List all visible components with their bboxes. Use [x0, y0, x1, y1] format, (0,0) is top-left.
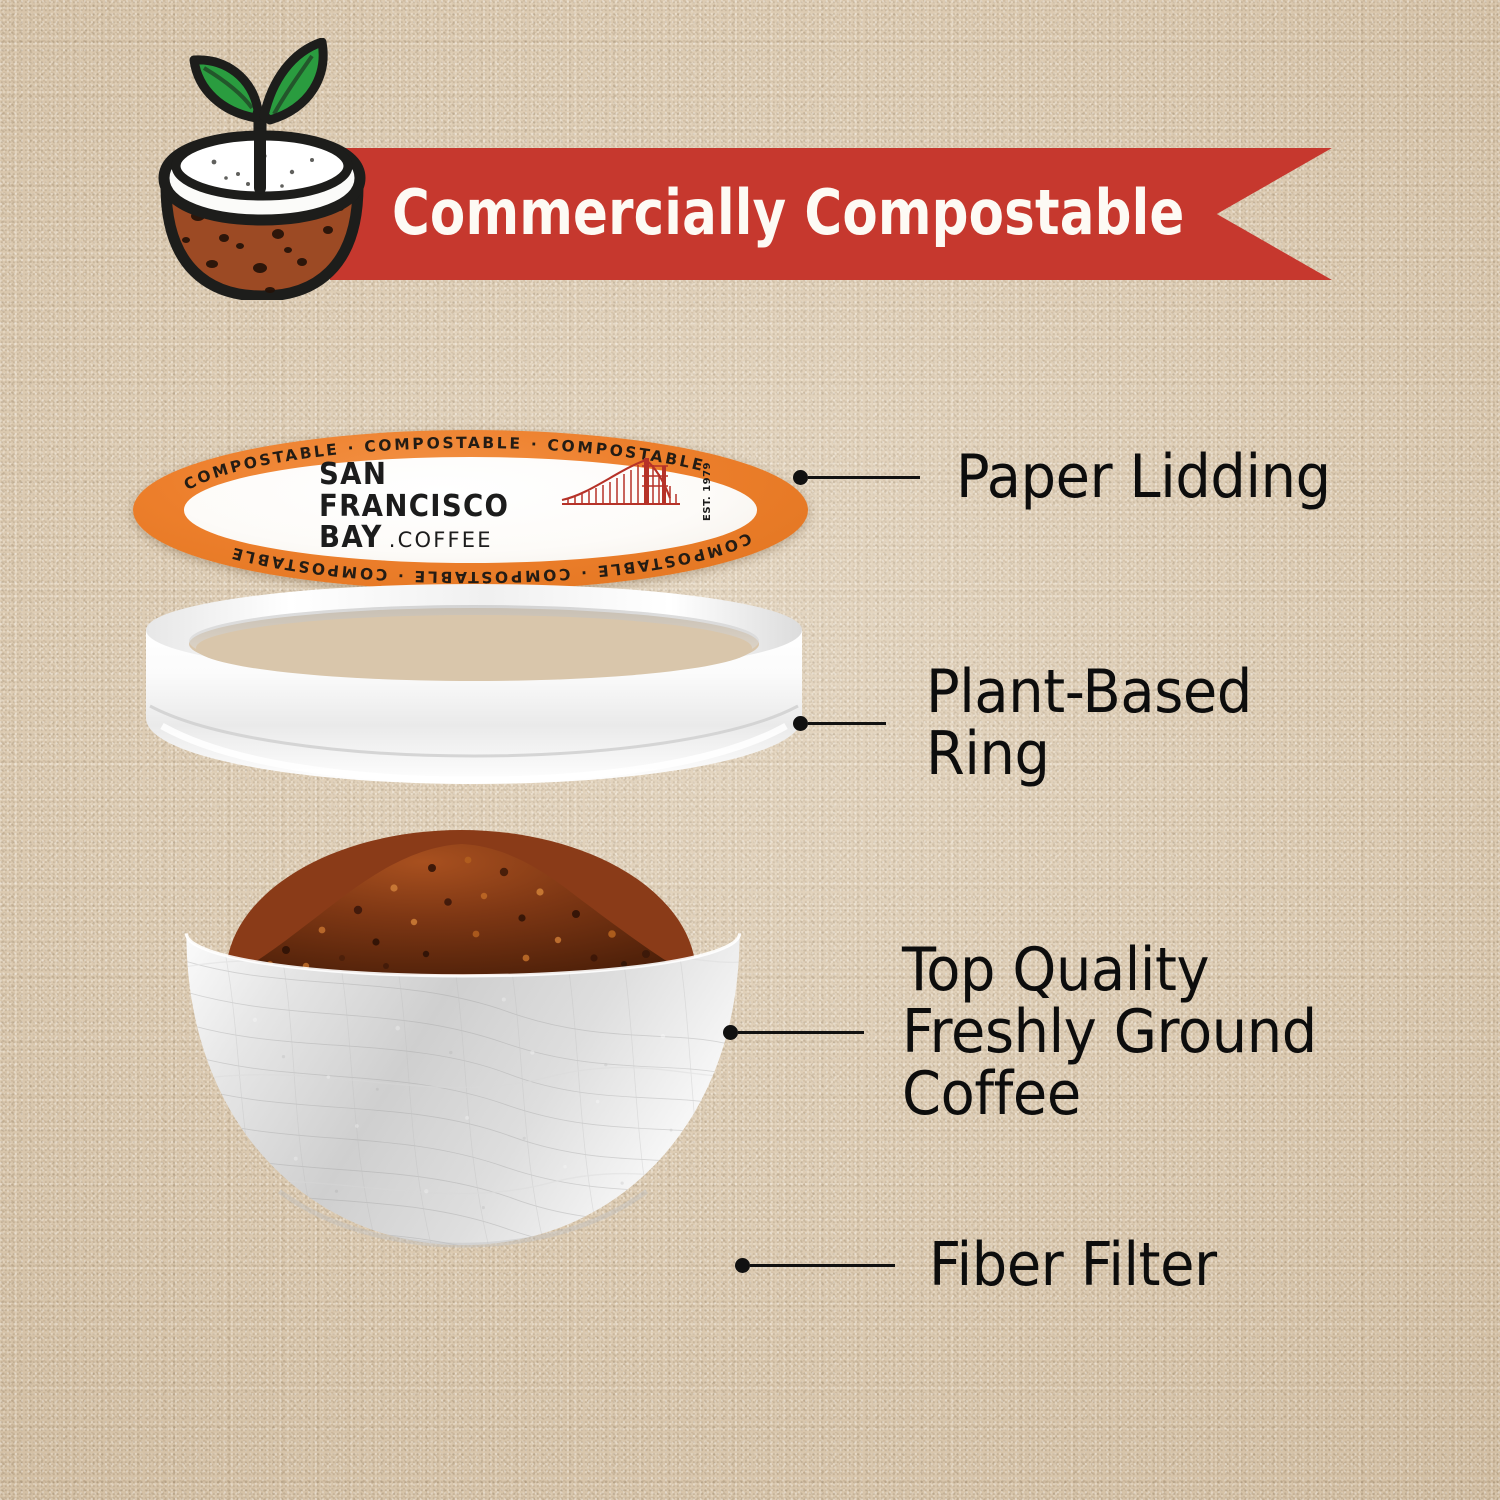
callout-label-ground-coffee: Top Quality Freshly Ground Coffee: [902, 940, 1317, 1125]
established-year: EST. 1979: [702, 462, 713, 521]
callout-paper-lidding: Paper Lidding: [793, 447, 1359, 509]
banner-title: Commercially Compostable: [392, 176, 1184, 249]
callout-line-paper-lidding: [808, 476, 920, 479]
logo-line-bay: BAY: [319, 523, 383, 552]
logo-line-san: SAN: [319, 460, 661, 489]
logo-suffix-coffee: .COFFEE: [389, 528, 493, 552]
logo-line-francisco: FRANCISCO: [319, 492, 661, 521]
callout-line-plant-based-ring: [808, 722, 886, 725]
callout-plant-based-ring: Plant-Based Ring: [793, 662, 1276, 786]
compostable-banner: Commercially Compostable: [330, 148, 1332, 280]
infographic-canvas: Commercially Compostable: [0, 0, 1500, 1500]
leaf-left-icon: [194, 60, 258, 118]
fiber-filter: [118, 922, 808, 1330]
sfbay-coffee-logo: EST. 1979 SAN FRANCISCO BAY .COFFEE: [319, 460, 690, 559]
callout-label-fiber-filter: Fiber Filter: [929, 1235, 1217, 1297]
callout-dot-ground-coffee: [723, 1025, 738, 1040]
fiber-filter-body: [186, 933, 739, 1245]
filter-cup-assembly: [118, 830, 808, 1330]
callout-ground-coffee: Top Quality Freshly Ground Coffee: [723, 940, 1348, 1125]
coconut-shell-seedling-icon: [152, 38, 374, 300]
callout-label-plant-based-ring: Plant-Based Ring: [926, 662, 1252, 786]
callout-line-fiber-filter: [750, 1264, 895, 1267]
callout-fiber-filter: Fiber Filter: [735, 1235, 1238, 1297]
callout-dot-paper-lidding: [793, 470, 808, 485]
logo-line-bay-row: BAY .COFFEE: [319, 523, 690, 552]
callout-dot-fiber-filter: [735, 1258, 750, 1273]
callout-label-paper-lidding: Paper Lidding: [956, 447, 1331, 509]
callout-line-ground-coffee: [738, 1031, 864, 1034]
plant-based-ring: [140, 578, 808, 790]
ring-inner-hole: [196, 615, 752, 681]
paper-lid: COMPOSTABLE · COMPOSTABLE · COMPOSTABLE …: [133, 430, 808, 590]
callout-dot-plant-based-ring: [793, 716, 808, 731]
